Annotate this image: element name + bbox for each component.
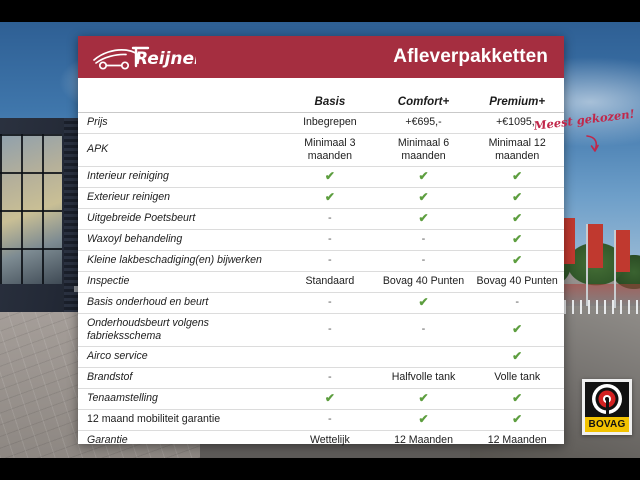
check-icon: ✔ <box>512 211 522 225</box>
check-icon: ✔ <box>512 190 522 204</box>
table-row: 12 maand mobiliteit garantie-✔✔ <box>78 409 564 430</box>
dash-icon: - <box>328 371 332 383</box>
table-row: Kleine lakbeschadiging(en) bijwerken--✔ <box>78 250 564 271</box>
cell-basis: - <box>283 409 377 430</box>
cell-premium: ✔ <box>470 388 564 409</box>
check-icon: ✔ <box>512 349 522 363</box>
check-icon: ✔ <box>512 232 522 246</box>
cell-comfort: Bovag 40 Punten <box>377 271 471 292</box>
check-icon: ✔ <box>512 412 522 426</box>
dash-icon: - <box>328 233 332 245</box>
dash-icon: - <box>422 323 426 335</box>
cell-basis: Minimaal 3 maanden <box>283 133 377 166</box>
cell-comfort: 12 Maanden <box>377 430 471 451</box>
cell-comfort: Minimaal 6 maanden <box>377 133 471 166</box>
bovag-wordmark: BOVAG <box>589 419 626 430</box>
table-row: InspectieStandaardBovag 40 PuntenBovag 4… <box>78 271 564 292</box>
letterbox-bar-top <box>0 0 640 22</box>
screenshot-canvas: Reijnen Afleverpakketten Basis Comfort+ … <box>0 0 640 480</box>
cell-basis: ✔ <box>283 166 377 187</box>
cell-basis: - <box>283 292 377 313</box>
cell-basis: Standaard <box>283 271 377 292</box>
cell-comfort <box>377 346 471 367</box>
dash-icon: - <box>422 233 426 245</box>
cell-premium: Volle tank <box>470 367 564 388</box>
letterbox-bar-bottom <box>0 458 640 480</box>
row-label: Inspectie <box>78 271 283 292</box>
row-label: Onderhoudsbeurt volgens fabrieksschema <box>78 313 283 346</box>
building-glass-facade <box>0 134 62 284</box>
cell-basis: - <box>283 229 377 250</box>
row-label: Basis onderhoud en beurt <box>78 292 283 313</box>
dash-icon: - <box>515 296 519 308</box>
cell-premium: +€1095,- <box>470 112 564 133</box>
package-comparison-card: Reijnen Afleverpakketten Basis Comfort+ … <box>78 36 564 444</box>
cell-basis: Inbegrepen <box>283 112 377 133</box>
bovag-mark: BOVAG <box>585 382 629 432</box>
table-head: Basis Comfort+ Premium+ <box>78 78 564 112</box>
dash-icon: - <box>328 296 332 308</box>
row-label: Tenaamstelling <box>78 388 283 409</box>
cell-premium: ✔ <box>470 187 564 208</box>
check-icon: ✔ <box>418 295 428 309</box>
cell-premium: Bovag 40 Punten <box>470 271 564 292</box>
table-row: Exterieur reinigen✔✔✔ <box>78 187 564 208</box>
cell-premium: Minimaal 12 maanden <box>470 133 564 166</box>
column-header-comfort: Comfort+ <box>377 78 471 112</box>
dash-icon: - <box>328 413 332 425</box>
check-icon: ✔ <box>418 211 428 225</box>
cell-basis: - <box>283 367 377 388</box>
bovag-badge: BOVAG <box>582 379 632 435</box>
cell-comfort: ✔ <box>377 187 471 208</box>
cell-comfort: - <box>377 229 471 250</box>
bovag-circle-icon <box>585 382 629 420</box>
cell-premium: ✔ <box>470 208 564 229</box>
row-label: Exterieur reinigen <box>78 187 283 208</box>
package-comparison-table: Basis Comfort+ Premium+ PrijsInbegrepen+… <box>78 78 564 451</box>
check-icon: ✔ <box>325 169 335 183</box>
cell-comfort: ✔ <box>377 388 471 409</box>
row-label: Waxoyl behandeling <box>78 229 283 250</box>
cell-comfort: Halfvolle tank <box>377 367 471 388</box>
row-label: Uitgebreide Poetsbeurt <box>78 208 283 229</box>
row-label: Airco service <box>78 346 283 367</box>
cell-basis: - <box>283 250 377 271</box>
check-icon: ✔ <box>325 391 335 405</box>
check-icon: ✔ <box>512 391 522 405</box>
dash-icon: - <box>328 323 332 335</box>
row-label: Kleine lakbeschadiging(en) bijwerken <box>78 250 283 271</box>
table-row: Waxoyl behandeling--✔ <box>78 229 564 250</box>
card-header: Reijnen Afleverpakketten <box>78 36 564 78</box>
table-row: Interieur reiniging✔✔✔ <box>78 166 564 187</box>
cell-premium: ✔ <box>470 409 564 430</box>
dash-icon: - <box>328 212 332 224</box>
table-row: Basis onderhoud en beurt-✔- <box>78 292 564 313</box>
row-label: 12 maand mobiliteit garantie <box>78 409 283 430</box>
row-label: Brandstof <box>78 367 283 388</box>
cell-basis: Wettelijk <box>283 430 377 451</box>
cell-comfort: +€695,- <box>377 112 471 133</box>
dash-icon: - <box>328 254 332 266</box>
cell-basis: - <box>283 313 377 346</box>
flag-2 <box>588 224 603 268</box>
table-row: Onderhoudsbeurt volgens fabrieksschema--… <box>78 313 564 346</box>
table-row: APKMinimaal 3 maandenMinimaal 6 maandenM… <box>78 133 564 166</box>
cell-basis: ✔ <box>283 187 377 208</box>
column-header-premium: Premium+ <box>470 78 564 112</box>
table-row: Brandstof-Halfvolle tankVolle tank <box>78 367 564 388</box>
bovag-wordmark-band: BOVAG <box>585 417 629 432</box>
svg-text:Reijnen: Reijnen <box>135 49 196 69</box>
cell-basis: ✔ <box>283 388 377 409</box>
table-header-row: Basis Comfort+ Premium+ <box>78 78 564 112</box>
cell-premium: 12 Maanden <box>470 430 564 451</box>
check-icon: ✔ <box>418 169 428 183</box>
table-row: PrijsInbegrepen+€695,-+€1095,- <box>78 112 564 133</box>
check-icon: ✔ <box>418 412 428 426</box>
row-label: Prijs <box>78 112 283 133</box>
cell-premium: ✔ <box>470 250 564 271</box>
column-header-basis: Basis <box>283 78 377 112</box>
row-label: Interieur reiniging <box>78 166 283 187</box>
check-icon: ✔ <box>512 253 522 267</box>
cell-basis <box>283 346 377 367</box>
cell-comfort: - <box>377 313 471 346</box>
cell-basis: - <box>283 208 377 229</box>
cell-comfort: ✔ <box>377 208 471 229</box>
check-icon: ✔ <box>512 169 522 183</box>
cell-premium: ✔ <box>470 229 564 250</box>
dash-icon: - <box>422 254 426 266</box>
row-label: APK <box>78 133 283 166</box>
row-label: Garantie <box>78 430 283 451</box>
check-icon: ✔ <box>325 190 335 204</box>
cell-premium: ✔ <box>470 166 564 187</box>
table-row: Airco service✔ <box>78 346 564 367</box>
cell-comfort: ✔ <box>377 409 471 430</box>
cell-comfort: ✔ <box>377 166 471 187</box>
check-icon: ✔ <box>418 391 428 405</box>
table-row: Uitgebreide Poetsbeurt-✔✔ <box>78 208 564 229</box>
cell-comfort: - <box>377 250 471 271</box>
flag-3 <box>616 230 630 272</box>
cell-premium: - <box>470 292 564 313</box>
cell-premium: ✔ <box>470 346 564 367</box>
reijnen-logo: Reijnen <box>92 40 196 74</box>
table-row: GarantieWettelijk12 Maanden12 Maanden <box>78 430 564 451</box>
check-icon: ✔ <box>418 190 428 204</box>
table-body: PrijsInbegrepen+€695,-+€1095,-APKMinimaa… <box>78 112 564 451</box>
check-icon: ✔ <box>512 322 522 336</box>
cell-premium: ✔ <box>470 313 564 346</box>
cell-comfort: ✔ <box>377 292 471 313</box>
table-row: Tenaamstelling✔✔✔ <box>78 388 564 409</box>
column-header-feature <box>78 78 283 112</box>
page-title: Afleverpakketten <box>393 46 548 68</box>
